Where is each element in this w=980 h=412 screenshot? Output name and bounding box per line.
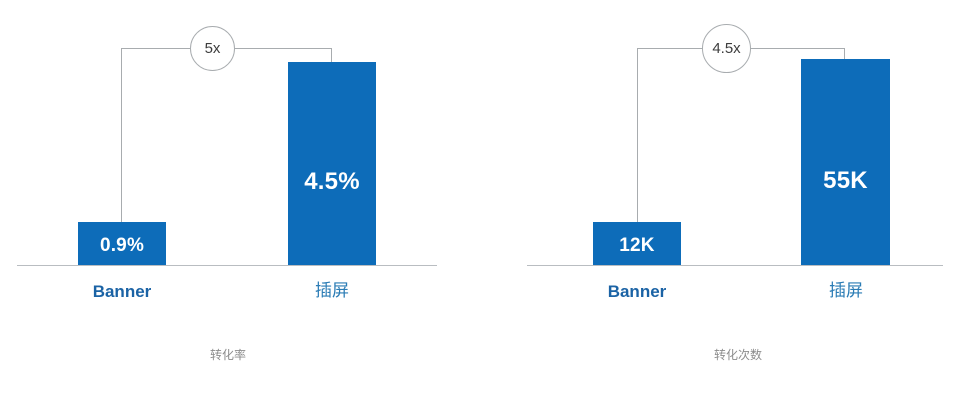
category-label-left-interstitial: 插屏	[282, 282, 382, 299]
panel-caption-left: 转化率	[158, 349, 298, 361]
category-label-left-banner: Banner	[72, 283, 172, 300]
baseline-axis-left	[17, 265, 437, 266]
multiplier-label-left: 5x	[205, 41, 221, 56]
panel-caption-right: 转化次数	[668, 349, 808, 361]
plot-area-right: 4.5x 12K 55K Banner 插屏 转化次数	[490, 0, 980, 412]
bar-left-banner: 0.9%	[78, 222, 166, 265]
bar-value-left-banner: 0.9%	[78, 236, 166, 255]
connector-vertical-right-up	[637, 48, 638, 223]
multiplier-label-right: 4.5x	[712, 41, 740, 56]
bar-right-banner: 12K	[593, 222, 681, 265]
baseline-axis-right	[527, 265, 943, 266]
bar-value-left-interstitial: 4.5%	[288, 170, 376, 194]
category-label-right-banner: Banner	[587, 283, 687, 300]
chart-panel-conversion-rate: 5x 0.9% 4.5% Banner 插屏 转化率	[0, 0, 490, 412]
connector-horizontal-right-a	[637, 48, 704, 49]
bar-right-interstitial: 55K	[801, 59, 890, 265]
chart-panel-conversion-count: 4.5x 12K 55K Banner 插屏 转化次数	[490, 0, 980, 412]
multiplier-badge-left: 5x	[190, 26, 235, 71]
connector-horizontal-left-b	[231, 48, 332, 49]
multiplier-badge-right: 4.5x	[702, 24, 751, 73]
category-label-right-interstitial: 插屏	[796, 282, 896, 299]
bar-value-right-interstitial: 55K	[801, 169, 890, 193]
connector-horizontal-right-b	[749, 48, 845, 49]
connector-horizontal-left-a	[121, 48, 194, 49]
bar-left-interstitial: 4.5%	[288, 62, 376, 265]
bar-value-right-banner: 12K	[593, 236, 681, 255]
chart-canvas: 5x 0.9% 4.5% Banner 插屏 转化率	[0, 0, 980, 412]
connector-vertical-left-up	[121, 48, 122, 223]
plot-area-left: 5x 0.9% 4.5% Banner 插屏 转化率	[0, 0, 490, 412]
